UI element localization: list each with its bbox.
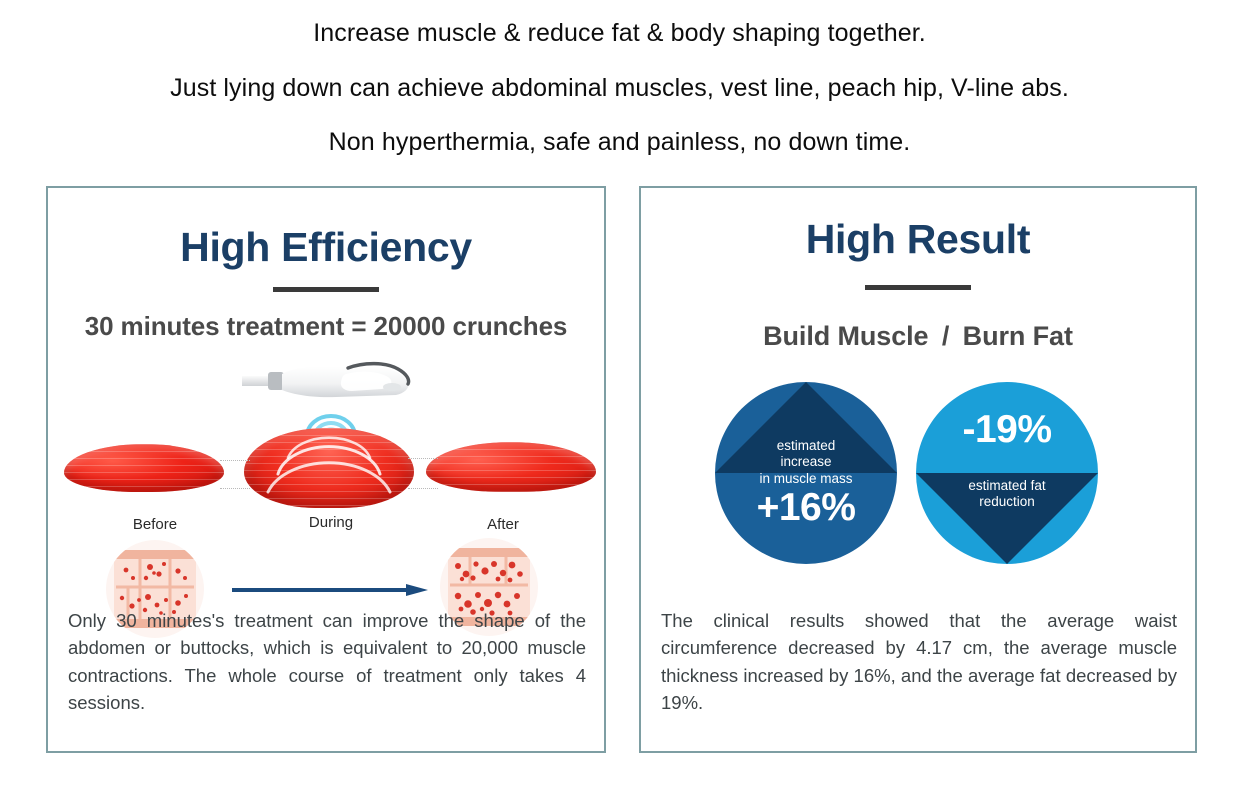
left-title-divider [273,287,379,292]
right-card-caption: The clinical results showed that the ave… [661,607,1177,717]
right-card-title: High Result [641,188,1195,263]
muscle-circle-value: +16% [715,486,897,530]
stat-circles-row: estimated increase in muscle mass +16% -… [641,374,1197,594]
fat-circle-value: -19% [916,408,1098,452]
fat-circle-label: estimated fat reduction [916,478,1098,511]
right-title-divider [865,285,971,290]
headline-line-2: Just lying down can achieve abdominal mu… [0,73,1239,105]
transition-arrow-icon [230,584,430,596]
connector-line [220,460,250,461]
connector-line [408,488,438,489]
muscle-circle-label: estimated increase in muscle mass [715,438,897,487]
stage-label-after: After [448,516,558,533]
headline-block: Increase muscle & reduce fat & body shap… [0,0,1239,182]
subtitle-divider-slash: / [936,321,955,351]
muscle-treatment-illustration: Before During After [48,348,604,638]
headline-line-3: Non hyperthermia, safe and painless, no … [0,127,1239,159]
muscle-striations [426,442,596,492]
stage-label-before: Before [100,516,210,533]
muscle-before-shape [64,444,224,492]
muscle-striations [64,444,224,492]
right-card-subtitle: Build Muscle / Burn Fat [641,321,1195,352]
subtitle-build-muscle: Build Muscle [763,321,928,351]
left-card-subtitle: 30 minutes treatment = 20000 crunches [48,311,604,342]
card-high-result: High Result Build Muscle / Burn Fat esti… [639,186,1197,753]
card-high-efficiency: High Efficiency 30 minutes treatment = 2… [46,186,606,753]
left-card-title: High Efficiency [48,188,604,271]
connector-line [408,458,438,459]
stage-label-during: During [276,514,386,531]
subtitle-burn-fat: Burn Fat [963,321,1073,351]
muscle-after-shape [426,442,596,492]
stat-circle-fat-reduction: -19% estimated fat reduction [916,382,1098,564]
stat-circle-muscle-increase: estimated increase in muscle mass +16% [715,382,897,564]
connector-line [220,488,250,489]
headline-line-1: Increase muscle & reduce fat & body shap… [0,18,1239,50]
contraction-arc-icon [244,434,414,510]
applicator-handpiece-icon [240,360,430,412]
left-card-caption: Only 30 minutes's treatment can improve … [68,607,586,717]
